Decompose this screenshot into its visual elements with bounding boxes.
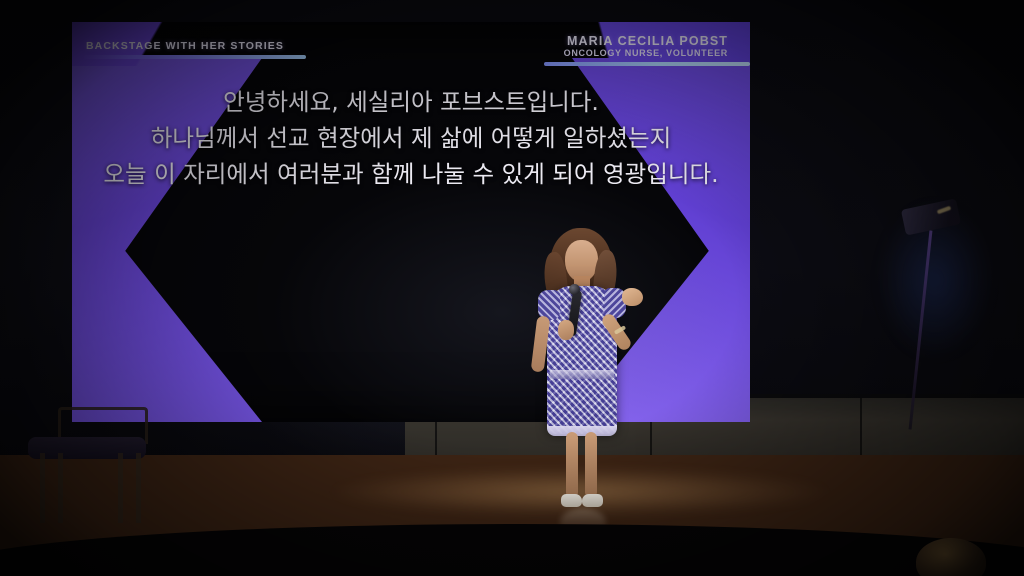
- speaker-figure: [526, 228, 636, 520]
- speaker-dress-belt: [550, 370, 614, 379]
- stool-leg: [58, 453, 63, 523]
- speaker-dress-hem: [547, 426, 617, 436]
- microphone-head: [569, 284, 580, 295]
- subtitle-line-3: 오늘 이 자리에서 여러분과 함께 나눌 수 있게 되어 영광입니다.: [72, 156, 750, 192]
- subtitle-line-1: 안녕하세요, 세실리아 포브스트입니다.: [72, 84, 750, 120]
- speaker-shoe-left: [561, 494, 582, 507]
- stool-leg: [40, 453, 45, 523]
- speaker-hand-right: [622, 288, 643, 306]
- subtitle-block: 안녕하세요, 세실리아 포브스트입니다. 하나님께서 선교 현장에서 제 삶에 …: [72, 84, 750, 192]
- header-rule-left: [84, 55, 306, 59]
- stool-leg: [118, 453, 123, 523]
- light-stand: [885, 170, 1005, 450]
- stool: [18, 395, 156, 525]
- slide-header-left-title: BACKSTAGE WITH HER STORIES: [86, 40, 284, 52]
- speaker-role: ONCOLOGY NURSE, VOLUNTEER: [564, 48, 728, 58]
- subtitle-line-2: 하나님께서 선교 현장에서 제 삶에 어떻게 일하셨는지: [72, 120, 750, 156]
- header-rule-right: [544, 62, 750, 66]
- stool-leg: [136, 453, 141, 523]
- speaker-leg-left: [566, 432, 578, 498]
- projection-screen: BACKSTAGE WITH HER STORIES MARIA CECILIA…: [72, 22, 750, 422]
- speaker-shoe-right: [582, 494, 603, 507]
- speaker-leg-right: [585, 432, 597, 498]
- speaker-name: MARIA CECILIA POBST: [567, 34, 728, 48]
- stool-seat: [28, 437, 146, 459]
- speaker-hand-left: [558, 320, 574, 340]
- stage-photo: BACKSTAGE WITH HER STORIES MARIA CECILIA…: [0, 0, 1024, 576]
